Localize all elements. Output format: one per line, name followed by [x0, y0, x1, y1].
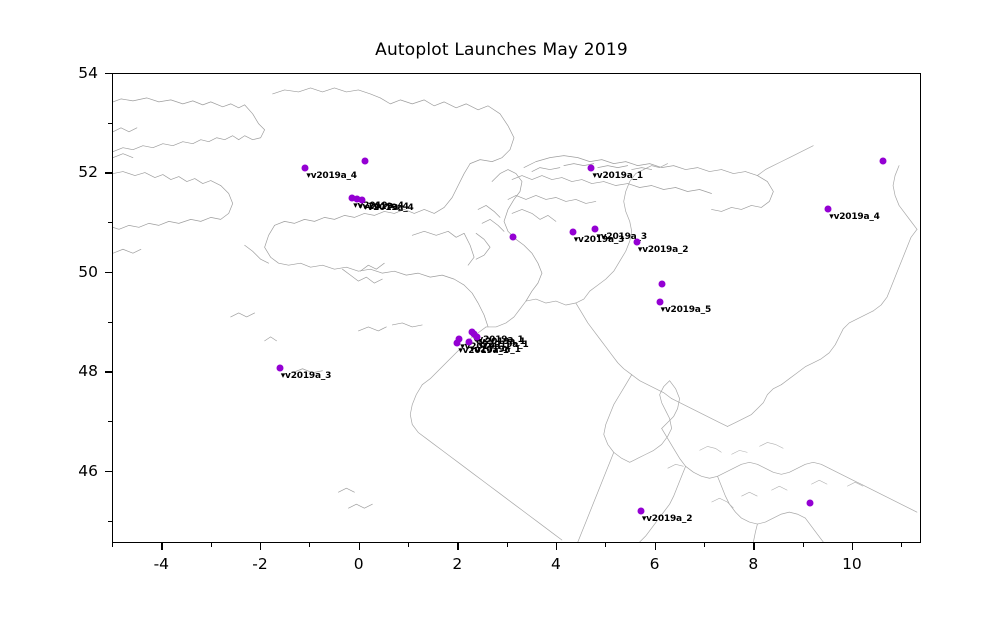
x-tick-major — [161, 543, 162, 550]
launch-label: ▾v2019a_5 — [661, 305, 711, 315]
x-tick-minor — [605, 543, 606, 547]
y-tick-major — [105, 272, 112, 273]
figure-canvas: Autoplot Launches May 2019 — [0, 0, 1003, 633]
x-tick-major — [852, 543, 853, 550]
x-tick-label: 8 — [748, 555, 758, 573]
launch-label: ▾v2019a_3 — [281, 371, 331, 381]
launch-label: ▾v2019a_4 — [363, 203, 413, 213]
launch-marker[interactable] — [879, 158, 886, 165]
y-tick-minor — [108, 421, 112, 422]
x-tick-major — [655, 543, 656, 550]
x-tick-minor — [901, 543, 902, 547]
y-tick-minor — [108, 123, 112, 124]
x-tick-major — [260, 543, 261, 550]
launch-label: ▾v2019a_4 — [829, 212, 879, 222]
x-tick-minor — [803, 543, 804, 547]
x-tick-label: 6 — [650, 555, 660, 573]
x-tick-minor — [112, 543, 113, 547]
x-tick-label: -4 — [154, 555, 169, 573]
launch-marker[interactable] — [658, 280, 665, 287]
launch-label: ▾v2019a_1 — [592, 171, 642, 181]
y-tick-label: 46 — [64, 462, 98, 480]
x-tick-minor — [704, 543, 705, 547]
x-tick-label: 0 — [354, 555, 364, 573]
y-tick-label: 50 — [64, 263, 98, 281]
y-tick-major — [105, 172, 112, 173]
y-tick-label: 48 — [64, 362, 98, 380]
scatter-layer — [113, 74, 920, 542]
x-tick-major — [556, 543, 557, 550]
launch-label: ▾v2019a_2 — [642, 514, 692, 524]
y-tick-minor — [108, 322, 112, 323]
y-tick-label: 54 — [64, 64, 98, 82]
launch-label: ▾v2019a_2 — [638, 245, 688, 255]
x-tick-label: -2 — [252, 555, 267, 573]
page-title: Autoplot Launches May 2019 — [0, 40, 1003, 60]
launch-marker[interactable] — [509, 234, 516, 241]
x-tick-minor — [408, 543, 409, 547]
x-tick-minor — [211, 543, 212, 547]
launch-marker[interactable] — [806, 499, 813, 506]
x-tick-label: 4 — [551, 555, 561, 573]
launch-label: ▾v2019a_4 — [306, 171, 356, 181]
y-tick-minor — [108, 222, 112, 223]
x-tick-label: 10 — [842, 555, 862, 573]
y-tick-major — [105, 471, 112, 472]
x-tick-label: 2 — [452, 555, 462, 573]
x-tick-minor — [309, 543, 310, 547]
map-axes[interactable]: ▾v2019a_4▾v2019a_4▾v2019a_4▾v2019a_4▾v20… — [112, 73, 921, 543]
y-tick-major — [105, 73, 112, 74]
x-tick-minor — [507, 543, 508, 547]
launch-label: ▾v2019a_1 — [458, 346, 508, 356]
launch-marker[interactable] — [361, 158, 368, 165]
y-tick-minor — [108, 521, 112, 522]
x-tick-major — [753, 543, 754, 550]
y-tick-major — [105, 371, 112, 372]
x-tick-major — [359, 543, 360, 550]
y-tick-label: 52 — [64, 163, 98, 181]
x-tick-major — [457, 543, 458, 550]
